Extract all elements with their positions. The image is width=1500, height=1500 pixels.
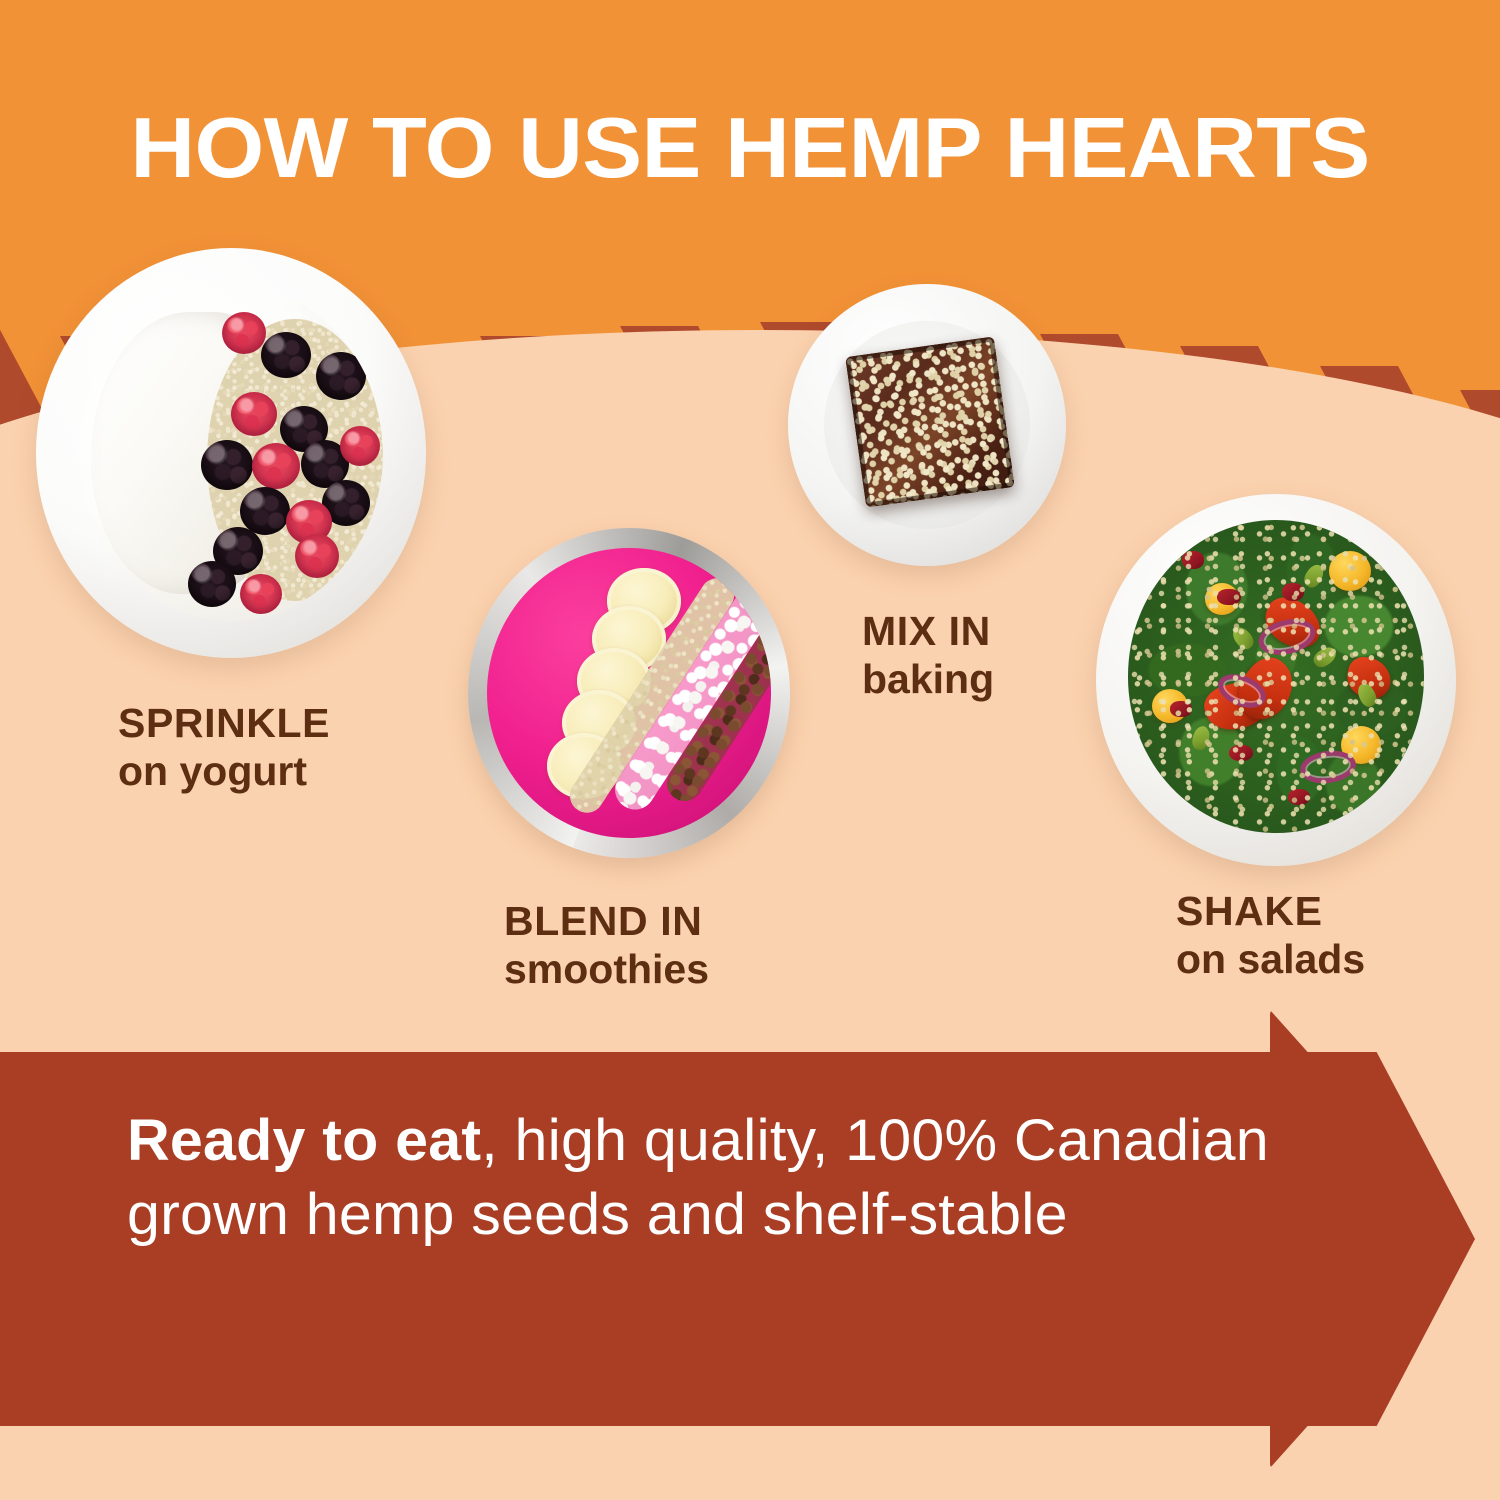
- caption-sprinkle-detail: on yogurt: [118, 748, 330, 796]
- caption-mix-action: MIX IN: [862, 608, 994, 656]
- pink-smoothie-base: [487, 548, 770, 838]
- raspberry: [240, 574, 282, 614]
- yogurt-bowl-photo: [36, 248, 426, 658]
- raspberry: [295, 534, 339, 578]
- blackberry: [240, 487, 290, 535]
- brownie-with-hemp-hearts: [845, 336, 1015, 508]
- caption-mix-detail: baking: [862, 656, 994, 704]
- raspberry: [252, 443, 300, 489]
- caption-sprinkle-action: SPRINKLE: [118, 700, 330, 748]
- page-title: HOW TO USE HEMP HEARTS: [0, 104, 1500, 194]
- caption-shake: SHAKE on salads: [1176, 888, 1365, 983]
- banner-text: Ready to eat, high quality, 100% Canadia…: [127, 1104, 1280, 1252]
- smoothie-bowl-photo: [468, 528, 790, 858]
- blackberry: [316, 352, 366, 400]
- caption-blend-detail: smoothies: [504, 946, 709, 994]
- banner-bold-lead: Ready to eat: [127, 1108, 481, 1173]
- caption-shake-detail: on salads: [1176, 936, 1365, 984]
- caption-shake-action: SHAKE: [1176, 888, 1365, 936]
- blackberry: [261, 332, 311, 378]
- caption-blend: BLEND IN smoothies: [504, 898, 709, 993]
- hemp-hearts-topping: [1128, 520, 1423, 832]
- raspberry: [222, 312, 266, 354]
- caption-blend-action: BLEND IN: [504, 898, 709, 946]
- bowl-shape: [36, 248, 426, 658]
- bowl-interior: [79, 285, 383, 621]
- infographic-poster: HOW TO USE HEMP HEARTS: [0, 0, 1500, 1500]
- brownie-plate-photo: [788, 284, 1066, 566]
- caption-sprinkle: SPRINKLE on yogurt: [118, 700, 330, 795]
- blackberry: [201, 440, 253, 490]
- kale-salad-contents: [1128, 520, 1423, 832]
- blackberry: [188, 561, 236, 607]
- salad-bowl-photo: [1096, 494, 1456, 866]
- caption-mix: MIX IN baking: [862, 608, 994, 703]
